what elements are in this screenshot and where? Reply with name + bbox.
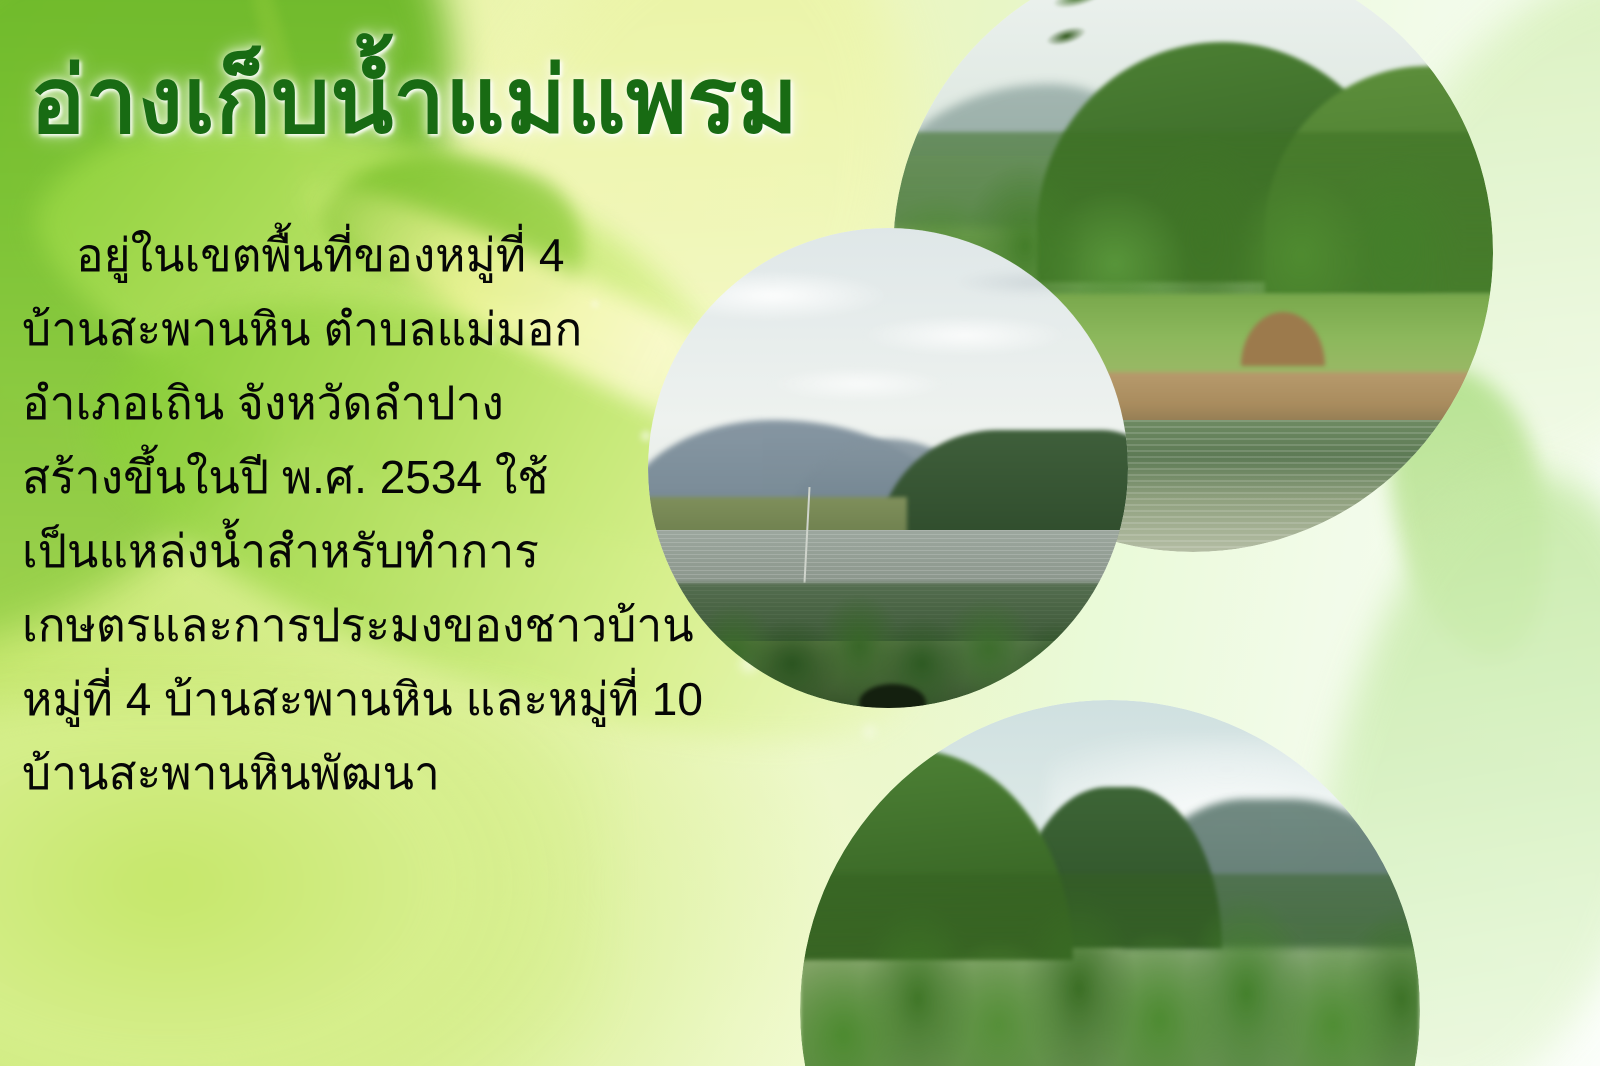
body-line: หมู่ที่ 4 บ้านสะพานหิน และหมู่ที่ 10 xyxy=(22,662,842,736)
body-line: เกษตรและการประมงของชาวบ้าน xyxy=(22,588,842,662)
body-line: บ้านสะพานหิน ตำบลแม่มอก xyxy=(22,292,842,366)
reservoir-photo-bottom xyxy=(800,700,1420,1066)
body-line: สร้างขึ้นในปี พ.ศ. 2534 ใช้ xyxy=(22,440,842,514)
body-line: อำเภอเถิน จังหวัดลำปาง xyxy=(22,366,842,440)
presentation-slide: อ่างเก็บน้ำแม่แพรม อยู่ในเขตพื้นที่ของหม… xyxy=(0,0,1600,1066)
body-line: อยู่ในเขตพื้นที่ของหมู่ที่ 4 xyxy=(22,218,842,292)
description-paragraph: อยู่ในเขตพื้นที่ของหมู่ที่ 4 บ้านสะพานหิ… xyxy=(22,218,842,810)
page-title: อ่างเก็บน้ำแม่แพรม xyxy=(30,52,798,151)
forest-canopy xyxy=(800,874,1420,1066)
body-line: เป็นแหล่งน้ำสำหรับทำการ xyxy=(22,514,842,588)
body-line: บ้านสะพานหินพัฒนา xyxy=(22,736,842,810)
photo-scene-bottom xyxy=(800,700,1420,1066)
